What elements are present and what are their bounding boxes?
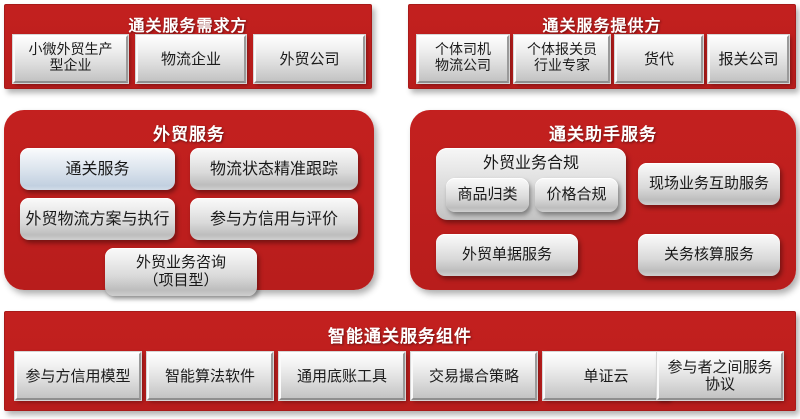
box-logistics-enterprise[interactable]: 物流企业 bbox=[136, 35, 246, 83]
panel-title-customs-assistant-service: 通关助手服务 bbox=[410, 120, 796, 145]
box-label-line1: 个体司机 bbox=[435, 42, 491, 58]
box-trade-matching-strategy[interactable]: 交易撮合策略 bbox=[411, 352, 537, 400]
box-label-line2: 行业专家 bbox=[534, 58, 590, 74]
box-label-line1: 个体报关员 bbox=[527, 42, 597, 58]
box-label: 物流状态精准跟踪 bbox=[210, 160, 338, 179]
box-label: 价格合规 bbox=[546, 186, 606, 204]
box-customs-accounting-service[interactable]: 关务核算服务 bbox=[638, 234, 780, 276]
box-label: 现场业务互助服务 bbox=[649, 175, 769, 193]
box-inter-participant-service-agreement[interactable]: 参与者之间服务 协议 bbox=[657, 352, 783, 400]
box-label: 外贸物流方案与执行 bbox=[25, 210, 169, 229]
panel-title-demand-side: 通关服务需求方 bbox=[5, 12, 371, 36]
box-commodity-classification[interactable]: 商品归类 bbox=[446, 178, 529, 212]
panel-smart-customs-components: 智能通关服务组件 参与方信用模型 智能算法软件 通用底账工具 交易撮合策略 单证… bbox=[4, 311, 796, 411]
box-trade-document-service[interactable]: 外贸单据服务 bbox=[436, 234, 578, 276]
box-label: 通用底账工具 bbox=[297, 368, 387, 385]
box-label-line1: 参与者之间服务 bbox=[667, 358, 772, 376]
box-label: 商品归类 bbox=[457, 186, 517, 204]
box-trade-business-consulting[interactable]: 外贸业务咨询 （项目型） bbox=[105, 248, 257, 296]
box-label: 智能算法软件 bbox=[165, 368, 255, 385]
box-individual-broker-expert[interactable]: 个体报关员 行业专家 bbox=[514, 35, 610, 83]
panel-title-provider-side: 通关服务提供方 bbox=[409, 12, 795, 36]
panel-title-smart-customs-components: 智能通关服务组件 bbox=[5, 322, 795, 347]
box-label: 外贸单据服务 bbox=[462, 246, 552, 264]
box-label: 单证云 bbox=[583, 368, 628, 385]
panel-customs-assistant-service: 通关助手服务 外贸业务合规 商品归类 价格合规 现场业务互助服务 外贸单据服务 … bbox=[410, 110, 796, 290]
panel-foreign-trade-service: 外贸服务 通关服务 物流状态精准跟踪 外贸物流方案与执行 参与方信用与评价 外贸… bbox=[4, 110, 374, 290]
box-onsite-business-mutual-aid[interactable]: 现场业务互助服务 bbox=[638, 163, 780, 205]
box-general-ledger-tool[interactable]: 通用底账工具 bbox=[279, 352, 405, 400]
box-label: 关务核算服务 bbox=[664, 246, 754, 264]
box-customs-clearance-service[interactable]: 通关服务 bbox=[20, 148, 175, 190]
box-trade-logistics-plan-execution[interactable]: 外贸物流方案与执行 bbox=[20, 198, 175, 240]
box-participant-credit-evaluation[interactable]: 参与方信用与评价 bbox=[190, 198, 358, 240]
box-label: 通关服务 bbox=[65, 160, 129, 179]
panel-provider-side: 通关服务提供方 个体司机 物流公司 个体报关员 行业专家 货代 报关公司 bbox=[408, 4, 796, 89]
box-label: 参与方信用模型 bbox=[25, 368, 130, 385]
box-freight-forwarder[interactable]: 货代 bbox=[615, 35, 703, 83]
box-customs-broker-company[interactable]: 报关公司 bbox=[708, 35, 789, 83]
box-label: 报关公司 bbox=[718, 51, 778, 68]
box-label-line2: 物流公司 bbox=[435, 58, 491, 74]
box-price-compliance[interactable]: 价格合规 bbox=[535, 178, 618, 212]
panel-demand-side: 通关服务需求方 小微外贸生产 型企业 物流企业 外贸公司 bbox=[4, 4, 372, 89]
box-label: 物流企业 bbox=[161, 51, 221, 68]
group-label-trade-business-compliance: 外贸业务合规 bbox=[436, 154, 626, 173]
box-label: 参与方信用与评价 bbox=[210, 210, 338, 229]
panel-title-foreign-trade-service: 外贸服务 bbox=[4, 120, 374, 145]
box-trade-company[interactable]: 外贸公司 bbox=[254, 35, 365, 83]
box-document-cloud[interactable]: 单证云 bbox=[543, 352, 669, 400]
box-label: 货代 bbox=[644, 51, 674, 68]
box-participant-credit-model[interactable]: 参与方信用模型 bbox=[15, 352, 141, 400]
box-label-line1: 小微外贸生产 bbox=[29, 42, 113, 58]
group-trade-business-compliance[interactable]: 外贸业务合规 商品归类 价格合规 bbox=[436, 148, 626, 220]
box-label-line2: 协议 bbox=[705, 375, 735, 393]
box-label: 外贸公司 bbox=[279, 51, 339, 68]
box-label-line2: （项目型） bbox=[143, 271, 218, 289]
box-smart-algorithm-software[interactable]: 智能算法软件 bbox=[147, 352, 273, 400]
box-small-micro-trade-enterprise[interactable]: 小微外贸生产 型企业 bbox=[13, 35, 128, 83]
box-label-line1: 外贸业务咨询 bbox=[136, 253, 226, 271]
box-individual-driver-logistics[interactable]: 个体司机 物流公司 bbox=[417, 35, 509, 83]
box-label-line2: 型企业 bbox=[50, 58, 92, 74]
box-label: 交易撮合策略 bbox=[429, 368, 519, 385]
diagram-canvas: 通关服务需求方 小微外贸生产 型企业 物流企业 外贸公司 通关服务提供方 个体司… bbox=[0, 0, 800, 419]
box-logistics-status-tracking[interactable]: 物流状态精准跟踪 bbox=[190, 148, 358, 190]
